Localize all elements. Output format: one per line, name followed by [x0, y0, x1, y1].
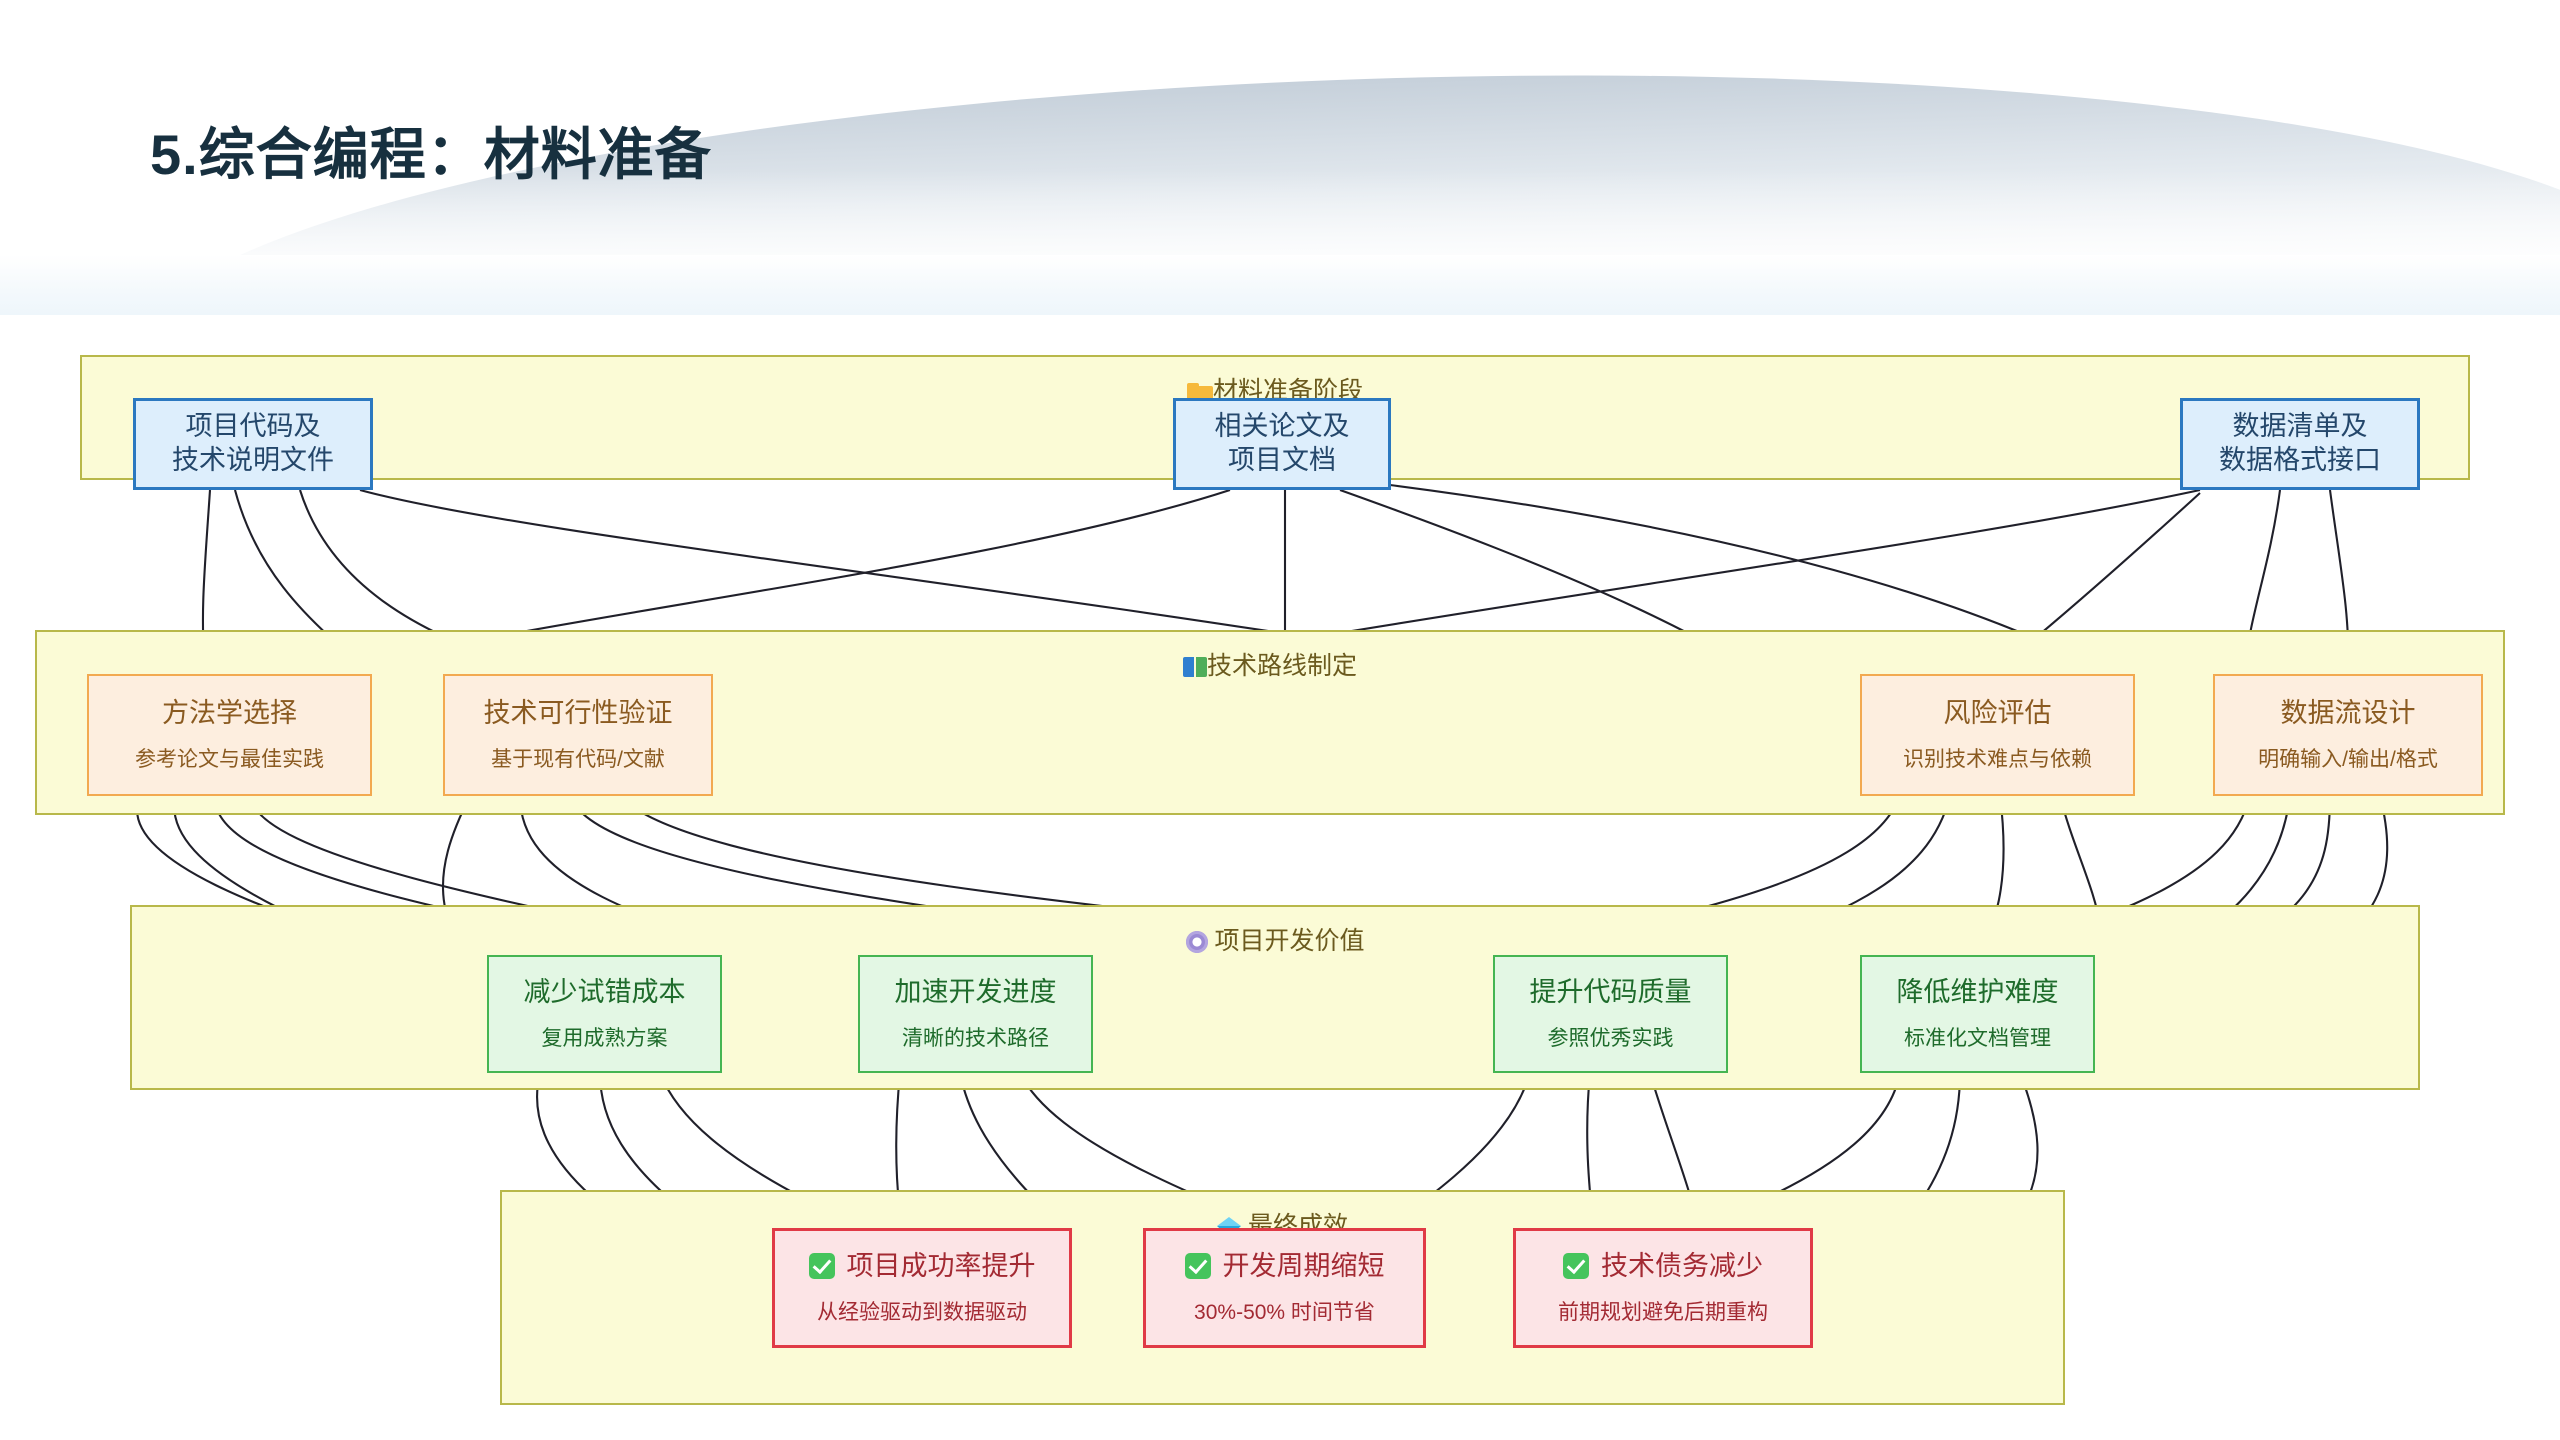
- node-feasibility[interactable]: 技术可行性验证 基于现有代码/文献: [443, 674, 713, 796]
- cluster-dev-value-label: 项目开发价值: [132, 921, 2418, 957]
- gear-icon: [1186, 931, 1208, 953]
- node-project-code-line1: 项目代码及: [186, 410, 321, 444]
- node-related-papers-line1: 相关论文及: [1215, 410, 1350, 444]
- node-reduce-cost[interactable]: 减少试错成本 复用成熟方案: [487, 955, 722, 1073]
- check-icon: [809, 1253, 835, 1279]
- node-maintainability-sub: 标准化文档管理: [1904, 1022, 2051, 1052]
- node-reduce-cost-title: 减少试错成本: [524, 976, 686, 1010]
- node-methodology-title: 方法学选择: [162, 697, 297, 731]
- node-speed-up-title: 加速开发进度: [895, 976, 1057, 1010]
- node-tech-debt[interactable]: 技术债务减少 前期规划避免后期重构: [1513, 1228, 1813, 1348]
- node-risk-sub: 识别技术难点与依赖: [1903, 743, 2092, 773]
- node-methodology-sub: 参考论文与最佳实践: [135, 743, 324, 773]
- node-maintainability-title: 降低维护难度: [1897, 976, 2059, 1010]
- node-dev-cycle[interactable]: 开发周期缩短 30%-50% 时间节省: [1143, 1228, 1426, 1348]
- flowchart-canvas: 材料准备阶段 项目代码及 技术说明文件 相关论文及 项目文档 数据清单及 数据格…: [0, 315, 2560, 1440]
- node-dataflow-title: 数据流设计: [2281, 697, 2416, 731]
- node-dev-cycle-text: 开发周期缩短: [1223, 1251, 1385, 1281]
- node-dev-cycle-sub: 30%-50% 时间节省: [1194, 1296, 1375, 1326]
- node-project-code-line2: 技术说明文件: [172, 444, 334, 478]
- node-tech-debt-text: 技术债务减少: [1601, 1251, 1763, 1281]
- node-methodology[interactable]: 方法学选择 参考论文与最佳实践: [87, 674, 372, 796]
- node-project-code[interactable]: 项目代码及 技术说明文件: [133, 398, 373, 490]
- header-divider-bar: [0, 255, 2560, 315]
- node-code-quality-sub: 参照优秀实践: [1548, 1022, 1674, 1052]
- node-data-spec-line2: 数据格式接口: [2219, 444, 2381, 478]
- node-success-rate-text: 项目成功率提升: [847, 1251, 1036, 1281]
- check-icon: [1563, 1253, 1589, 1279]
- cluster-dev-value-label-text: 项目开发价值: [1214, 927, 1364, 955]
- node-speed-up[interactable]: 加速开发进度 清晰的技术路径: [858, 955, 1093, 1073]
- node-code-quality-title: 提升代码质量: [1530, 976, 1692, 1010]
- node-reduce-cost-sub: 复用成熟方案: [542, 1022, 668, 1052]
- node-related-papers-line2: 项目文档: [1228, 444, 1336, 478]
- node-tech-debt-sub: 前期规划避免后期重构: [1558, 1296, 1768, 1326]
- cluster-tech-route-label-text: 技术路线制定: [1207, 652, 1357, 680]
- node-dev-cycle-title: 开发周期缩短: [1185, 1250, 1385, 1284]
- page-title: 5.综合编程：材料准备: [150, 110, 712, 191]
- node-data-spec-line1: 数据清单及: [2233, 410, 2368, 444]
- node-success-rate-title: 项目成功率提升: [809, 1250, 1036, 1284]
- node-risk-title: 风险评估: [1944, 697, 2052, 731]
- node-dataflow[interactable]: 数据流设计 明确输入/输出/格式: [2213, 674, 2483, 796]
- node-related-papers[interactable]: 相关论文及 项目文档: [1173, 398, 1391, 490]
- check-icon: [1185, 1253, 1211, 1279]
- node-success-rate-sub: 从经验驱动到数据驱动: [817, 1296, 1027, 1326]
- node-feasibility-title: 技术可行性验证: [484, 697, 673, 731]
- node-speed-up-sub: 清晰的技术路径: [902, 1022, 1049, 1052]
- node-risk[interactable]: 风险评估 识别技术难点与依赖: [1860, 674, 2135, 796]
- node-dataflow-sub: 明确输入/输出/格式: [2258, 743, 2438, 773]
- node-data-spec[interactable]: 数据清单及 数据格式接口: [2180, 398, 2420, 490]
- node-maintainability[interactable]: 降低维护难度 标准化文档管理: [1860, 955, 2095, 1073]
- node-tech-debt-title: 技术债务减少: [1563, 1250, 1763, 1284]
- node-success-rate[interactable]: 项目成功率提升 从经验驱动到数据驱动: [772, 1228, 1072, 1348]
- node-code-quality[interactable]: 提升代码质量 参照优秀实践: [1493, 955, 1728, 1073]
- book-icon: [1183, 657, 1207, 677]
- node-feasibility-sub: 基于现有代码/文献: [491, 743, 665, 773]
